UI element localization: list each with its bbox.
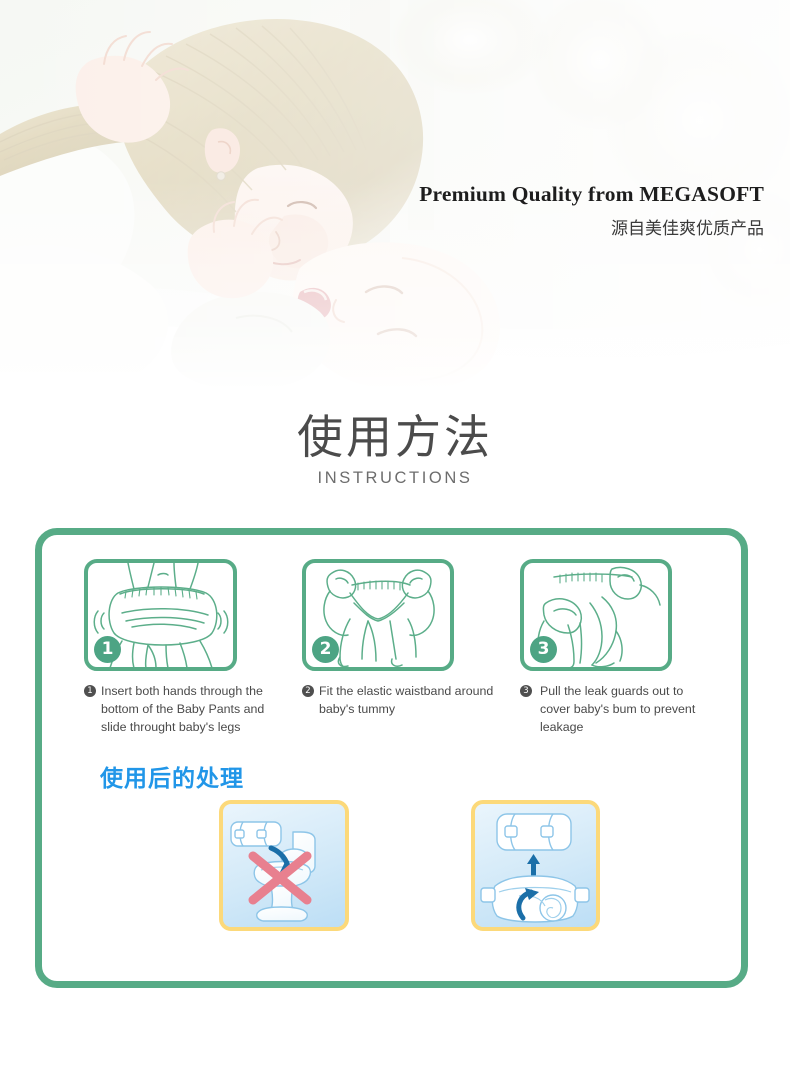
section-title-en: INSTRUCTIONS: [0, 469, 790, 488]
step-1-caption: 1 Insert both hands through the bottom o…: [84, 682, 280, 736]
step-3-badge: 3: [530, 636, 557, 663]
step-2-caption: 2 Fit the elastic waistband around baby'…: [302, 682, 498, 718]
step-1-bullet: 1: [84, 685, 96, 697]
step-2-illustration-box: 2: [302, 559, 454, 671]
steps-row: 1 1 Insert both hands through the bottom…: [84, 559, 724, 736]
step-3-illustration-box: 3: [520, 559, 672, 671]
step-3-bullet: 3: [520, 685, 532, 697]
step-2: 2 2 Fit the elastic waistband around bab…: [302, 559, 498, 736]
do-not-flush-in-toilet-illustration: [223, 804, 345, 927]
step-2-text: Fit the elastic waistband around baby's …: [319, 682, 498, 718]
instructions-panel: 1 1 Insert both hands through the bottom…: [35, 528, 748, 988]
hero-tagline-en: Premium Quality from MEGASOFT: [419, 182, 764, 207]
section-title: 使用方法 INSTRUCTIONS: [0, 414, 790, 488]
step-2-badge: 2: [312, 636, 339, 663]
step-1-illustration-box: 1: [84, 559, 237, 671]
roll-up-diaper-illustration: [475, 804, 596, 927]
product-instruction-page: Premium Quality from MEGASOFT 源自美佳爽优质产品 …: [0, 0, 790, 1070]
step-3-caption: 3 Pull the leak guards out to cover baby…: [520, 682, 716, 736]
step-1-badge: 1: [94, 636, 121, 663]
disposal-box-roll-up: [471, 800, 600, 931]
hero-photo: Premium Quality from MEGASOFT 源自美佳爽优质产品: [0, 0, 790, 390]
step-1: 1 1 Insert both hands through the bottom…: [84, 559, 280, 736]
hero-tagline-cn: 源自美佳爽优质产品: [419, 214, 764, 239]
section-title-cn: 使用方法: [0, 414, 790, 460]
disposal-row: [100, 800, 700, 950]
disposal-box-do-not-flush: [219, 800, 349, 931]
step-3: 3 3 Pull the leak guards out to cover ba…: [520, 559, 716, 736]
step-2-bullet: 2: [302, 685, 314, 697]
hero-tagline: Premium Quality from MEGASOFT 源自美佳爽优质产品: [419, 182, 764, 239]
disposal-heading: 使用后的处理: [100, 759, 244, 793]
step-3-text: Pull the leak guards out to cover baby's…: [540, 682, 716, 736]
step-1-text: Insert both hands through the bottom of …: [101, 682, 280, 736]
